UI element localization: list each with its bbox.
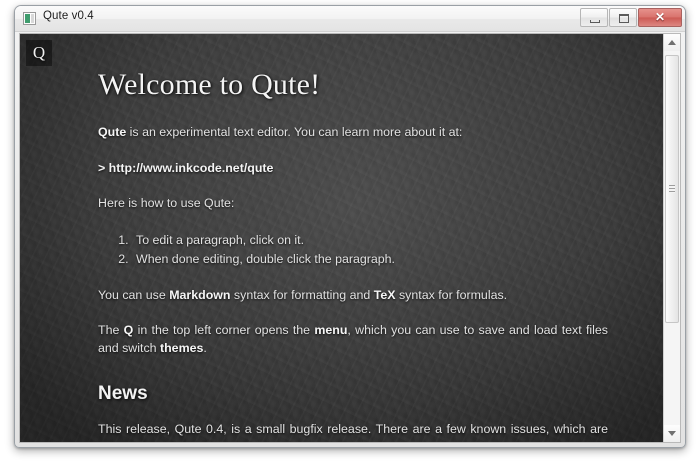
menu-bold-q: Q [124,323,134,337]
intro-bold-lead: Qute [98,125,126,139]
menu-button[interactable]: Q [26,40,52,66]
title-bar[interactable]: Qute v0.4 ✕ [15,6,685,32]
scrollbar-thumb[interactable] [665,55,679,323]
grip-icon [669,185,675,193]
close-icon: ✕ [639,9,681,26]
window-controls: ✕ [580,8,682,27]
blockquote-url[interactable]: > http://www.inkcode.net/qute [98,160,608,178]
qute-app-icon [23,12,36,25]
news-paragraph-1[interactable]: This release, Qute 0.4, is a small bugfi… [98,421,608,442]
syntax-paragraph[interactable]: You can use Markdown syntax for formatti… [98,287,608,305]
chevron-up-icon [668,40,676,45]
minimize-icon [590,20,600,23]
menu-text-4: . [203,341,206,355]
list-item: To edit a paragraph, click on it. [132,231,608,250]
menu-bold-menu: menu [314,323,347,337]
minimize-button[interactable] [580,8,608,27]
intro-rest: is an experimental text editor. You can … [126,125,462,139]
application-window: Qute v0.4 ✕ Q Welcome to Qute! Qute is a… [14,5,686,448]
menu-bold-themes: themes [160,341,203,355]
document-content: Welcome to Qute! Qute is an experimental… [98,68,608,442]
list-item: When done editing, double click the para… [132,250,608,269]
howto-lead-paragraph[interactable]: Here is how to use Qute: [98,195,608,213]
client-area: Q Welcome to Qute! Qute is an experiment… [19,33,681,443]
editor-page[interactable]: Q Welcome to Qute! Qute is an experiment… [20,34,663,442]
maximize-button[interactable] [609,8,637,27]
news-heading: News [98,383,608,405]
syntax-bold-markdown: Markdown [169,288,230,302]
vertical-scrollbar[interactable] [663,34,680,442]
scroll-down-button[interactable] [664,425,680,442]
menu-paragraph[interactable]: The Q in the top left corner opens the m… [98,322,608,357]
maximize-icon [619,14,629,23]
chevron-down-icon [668,431,676,436]
close-button[interactable]: ✕ [638,8,682,27]
steps-list[interactable]: To edit a paragraph, click on it. When d… [98,231,608,269]
window-title: Qute v0.4 [43,10,94,22]
scrollbar-track[interactable] [664,51,680,425]
syntax-bold-tex: TeX [374,288,396,302]
scroll-up-button[interactable] [664,34,680,51]
syntax-text-3: syntax for formulas. [396,288,508,302]
page-title: Welcome to Qute! [98,68,608,102]
menu-text-2: in the top left corner opens the [133,323,314,337]
syntax-text-1: You can use [98,288,169,302]
menu-text-1: The [98,323,124,337]
syntax-text-2: syntax for formatting and [230,288,373,302]
intro-paragraph[interactable]: Qute is an experimental text editor. You… [98,124,608,142]
